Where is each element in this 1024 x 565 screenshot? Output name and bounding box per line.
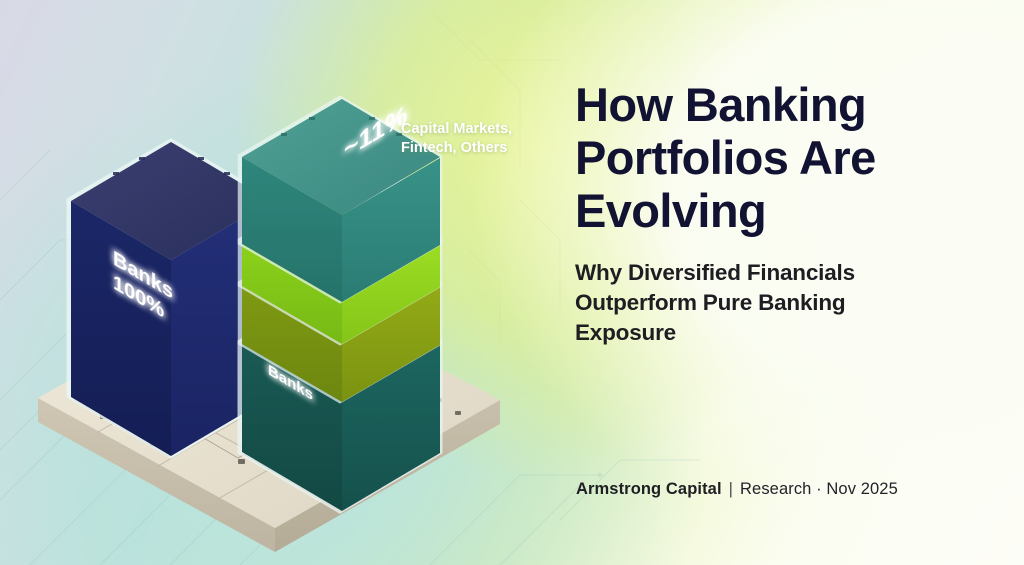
footer-meta: Research · Nov 2025 xyxy=(740,480,898,498)
footer-separator: | xyxy=(722,480,740,498)
footer-credit: Armstrong Capital|Research · Nov 2025 xyxy=(576,480,898,499)
page-title: How Banking Portfolios Are Evolving xyxy=(575,78,995,237)
annotation-line-2: Fintech, Others xyxy=(401,139,551,158)
subhead-line-3: Exposure xyxy=(575,318,995,348)
headline-line-3: Evolving xyxy=(575,184,995,237)
chart-annotation-capital-markets: Capital Markets, Fintech, Others xyxy=(401,120,551,158)
subhead-line-1: Why Diversified Financials xyxy=(575,258,995,288)
isometric-bar-chart: Banks 100% Banks 48% xyxy=(0,0,575,565)
footer-brand: Armstrong Capital xyxy=(576,480,722,498)
isometric-chart-stage: Banks 100% Banks 48% xyxy=(0,0,575,565)
page-subtitle: Why Diversified Financials Outperform Pu… xyxy=(575,258,995,348)
headline-line-1: How Banking xyxy=(575,78,995,131)
text-column: How Banking Portfolios Are Evolving Why … xyxy=(575,78,995,348)
slide-canvas: Banks 100% Banks 48% xyxy=(0,0,1024,565)
annotation-line-1: Capital Markets, xyxy=(401,120,551,139)
subhead-line-2: Outperform Pure Banking xyxy=(575,288,995,318)
headline-line-2: Portfolios Are xyxy=(575,131,995,184)
